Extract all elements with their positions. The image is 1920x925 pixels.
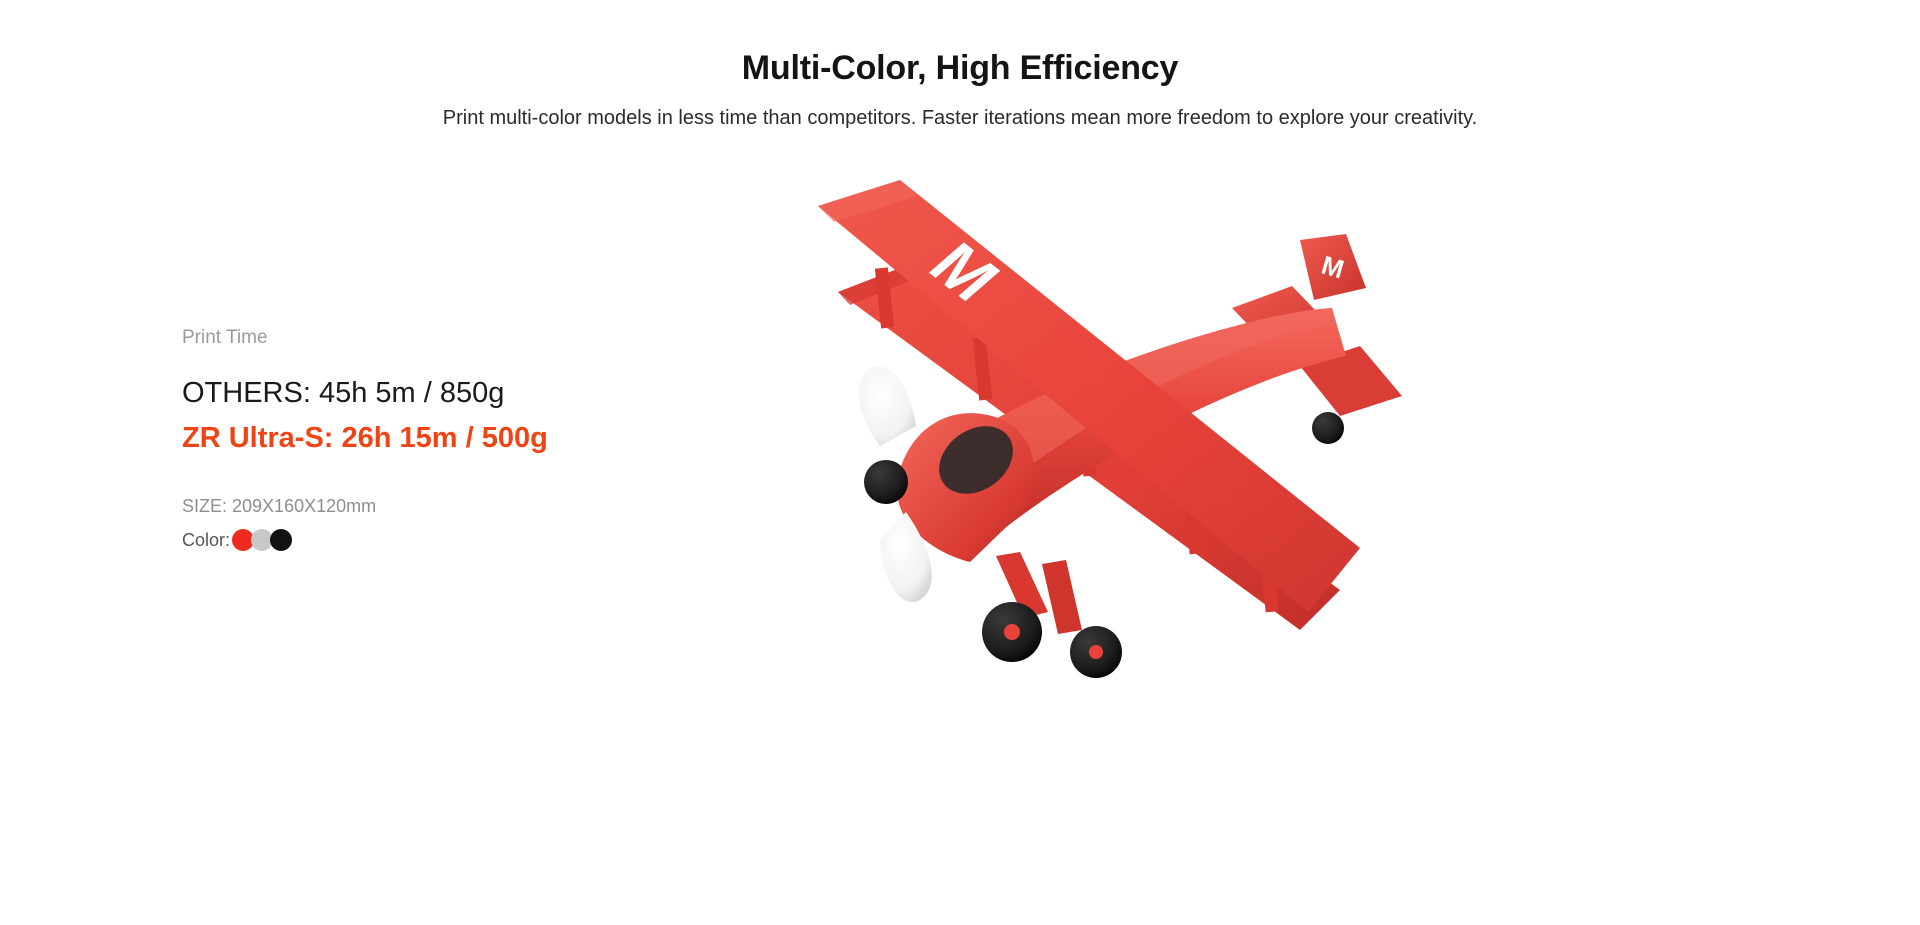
color-swatch-row: Color: — [182, 529, 802, 551]
page-subtitle: Print multi-color models in less time th… — [0, 89, 1920, 131]
propeller-hub — [864, 460, 908, 504]
page-root: Multi-Color, High Efficiency Print multi… — [0, 0, 1920, 925]
biplane-illustration: M M — [780, 160, 1480, 740]
color-label: Color: — [182, 530, 230, 551]
print-stats-panel: Print Time OTHERS: 45h 5m / 850g ZR Ultr… — [182, 325, 802, 551]
print-time-label: Print Time — [182, 325, 802, 352]
swatch-black[interactable] — [270, 529, 292, 551]
product-image-biplane: M M — [780, 160, 1480, 740]
stat-others: OTHERS: 45h 5m / 850g — [182, 374, 802, 413]
header: Multi-Color, High Efficiency Print multi… — [0, 0, 1920, 131]
stat-zr-ultra-s: ZR Ultra-S: 26h 15m / 500g — [182, 419, 802, 458]
color-swatches — [232, 529, 292, 551]
model-size: SIZE: 209X160X120mm — [182, 494, 802, 519]
wheel-tail — [1312, 412, 1344, 444]
page-title: Multi-Color, High Efficiency — [0, 0, 1920, 89]
